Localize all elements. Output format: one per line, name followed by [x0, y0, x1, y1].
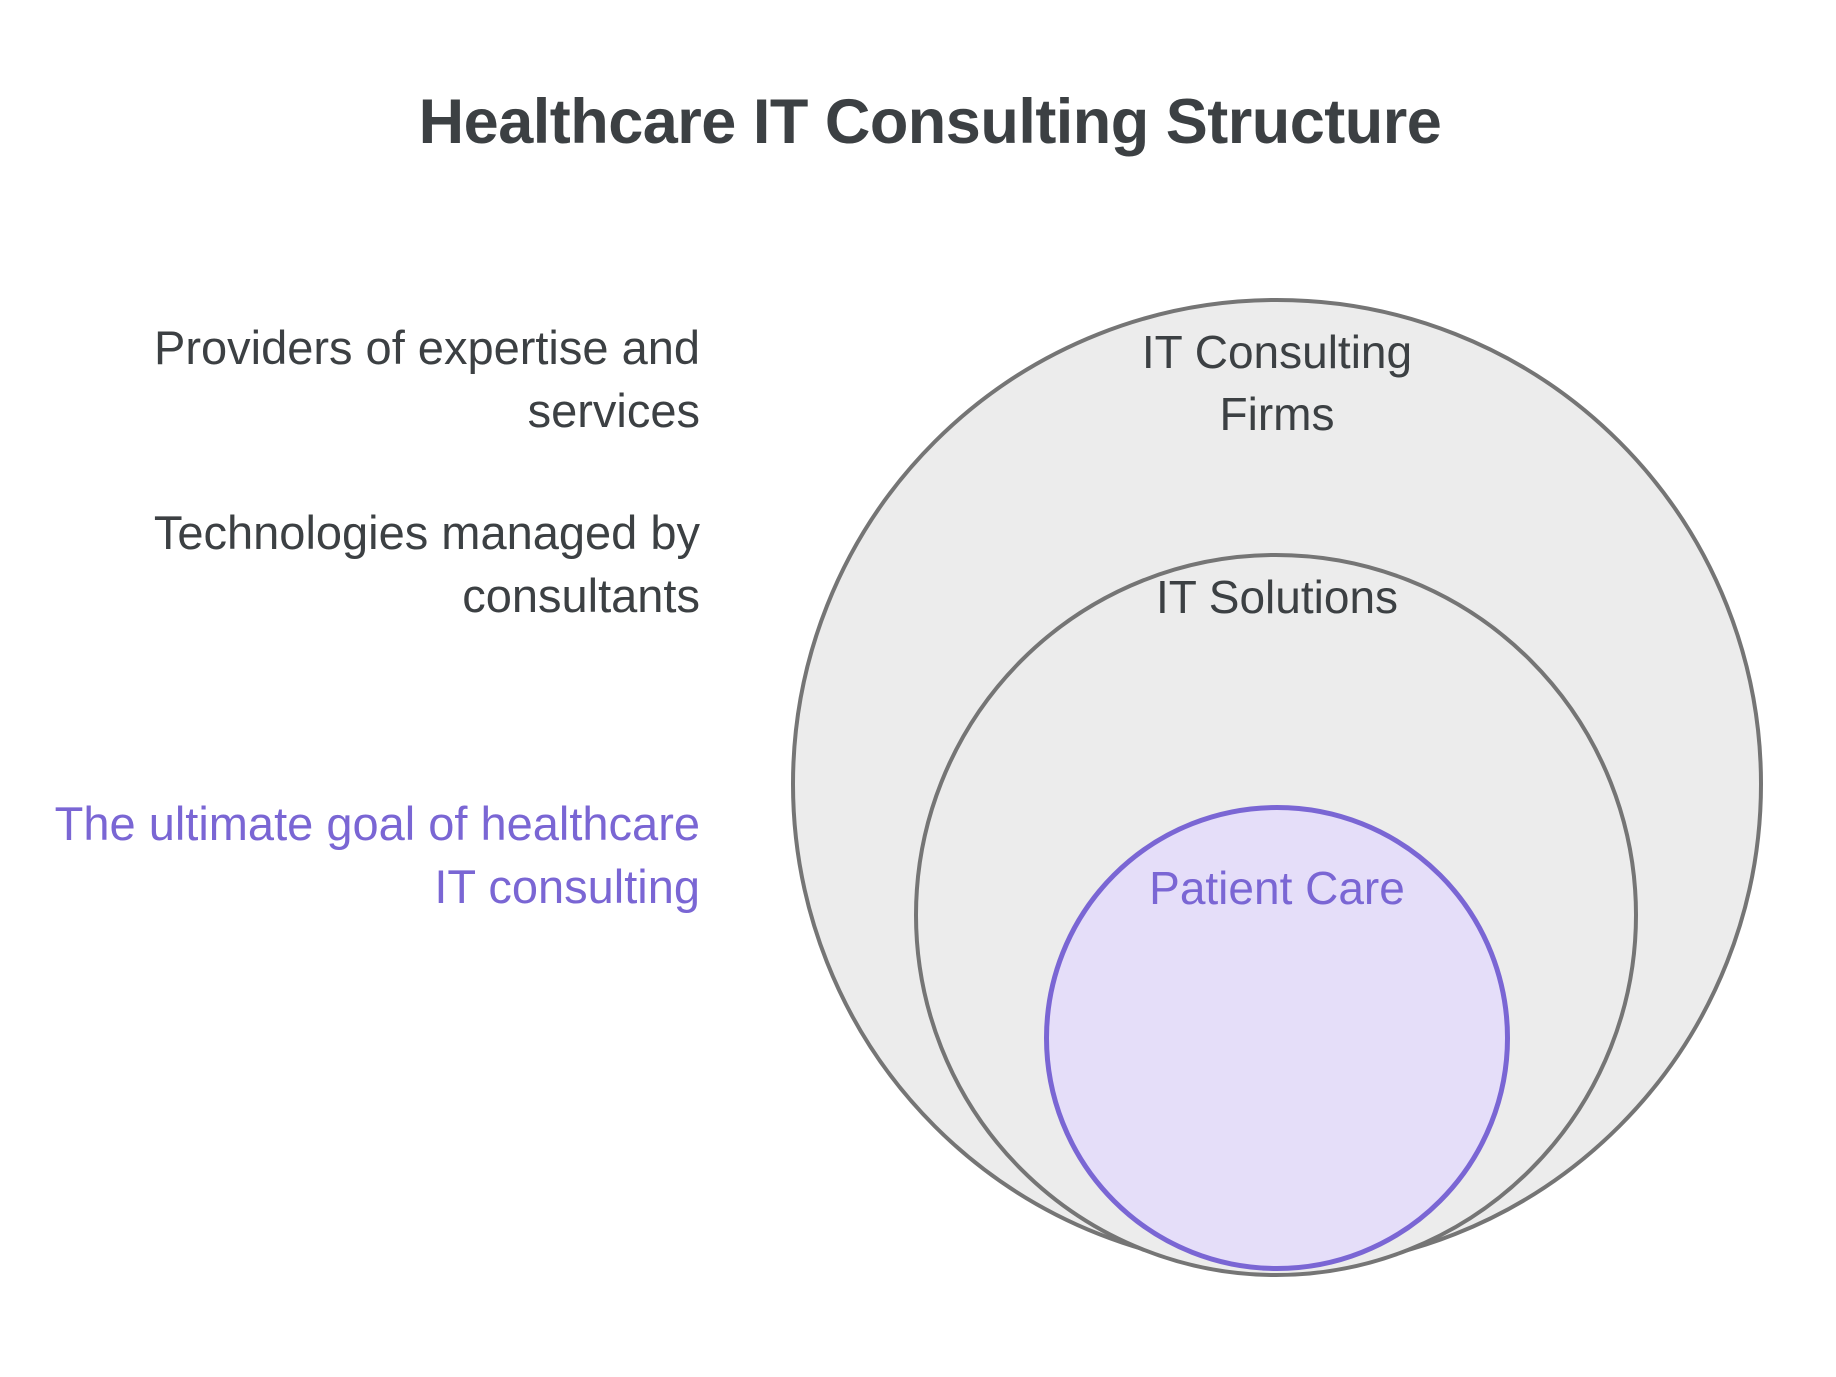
concentric-circle-diagram: IT Consulting Firms IT Solutions Patient… — [0, 0, 1836, 1377]
slide-canvas: Healthcare IT Consulting Structure Provi… — [0, 0, 1836, 1377]
ring-label-it-solutions: IT Solutions — [877, 567, 1677, 629]
ring-label-patient-care: Patient Care — [1044, 858, 1510, 920]
ring-label-it-consulting-firms: IT Consulting Firms — [877, 322, 1677, 445]
